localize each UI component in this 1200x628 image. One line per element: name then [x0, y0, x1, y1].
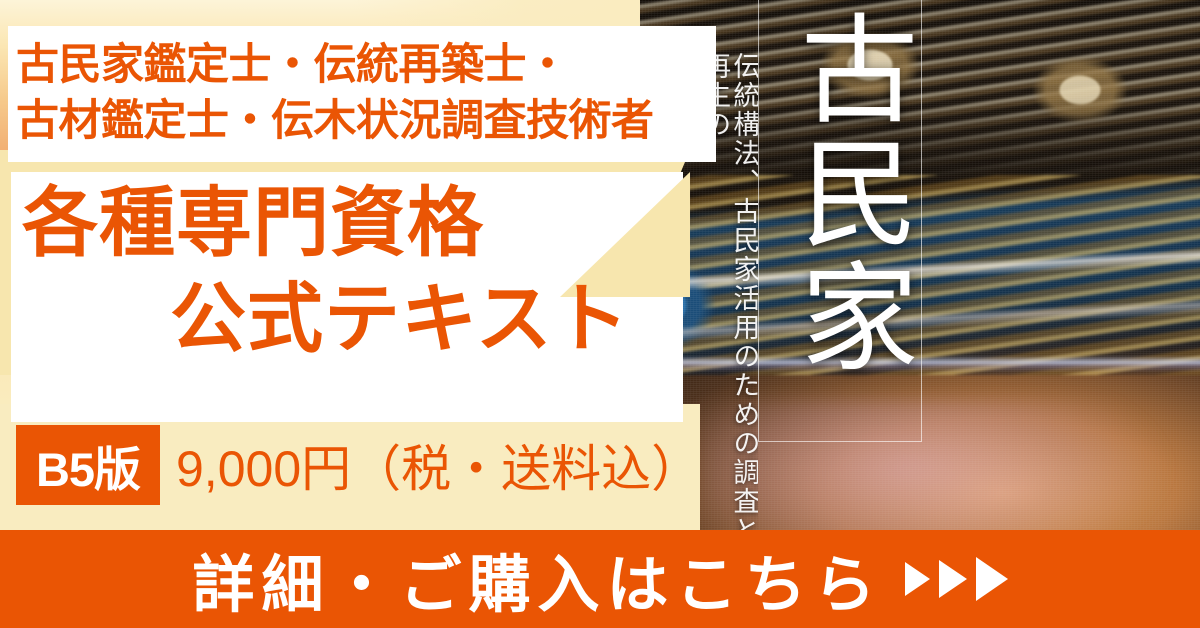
format-badge: B5版 [16, 425, 160, 505]
triangle-right-icon [976, 557, 1008, 601]
cta-bar[interactable]: 詳細・ご購入はこちら [0, 530, 1200, 628]
book-cover-title: 古民家 [760, 8, 918, 428]
promo-banner: 伝統構法、古民家活用のための調査と再生の 古民家 古民家鑑定士・伝統再築士・ 古… [0, 0, 1200, 628]
headline-line-2: 古材鑑定士・伝木状況調査技術者 [16, 94, 716, 150]
price-text: 9,000円（税・送料込） [176, 425, 701, 505]
headline-line-1: 古民家鑑定士・伝統再築士・ [16, 38, 716, 94]
cta-label: 詳細・ご購入はこちら [192, 534, 882, 624]
headline-text: 古民家鑑定士・伝統再築士・ 古材鑑定士・伝木状況調査技術者 [16, 26, 716, 162]
cta-arrows [905, 557, 1008, 601]
main-title-line-1: 各種専門資格 [14, 176, 674, 272]
triangle-right-icon [939, 560, 967, 598]
triangle-right-icon [905, 562, 930, 596]
main-title: 各種専門資格 公式テキスト [14, 176, 674, 416]
main-title-line-2: 公式テキスト [14, 272, 674, 368]
